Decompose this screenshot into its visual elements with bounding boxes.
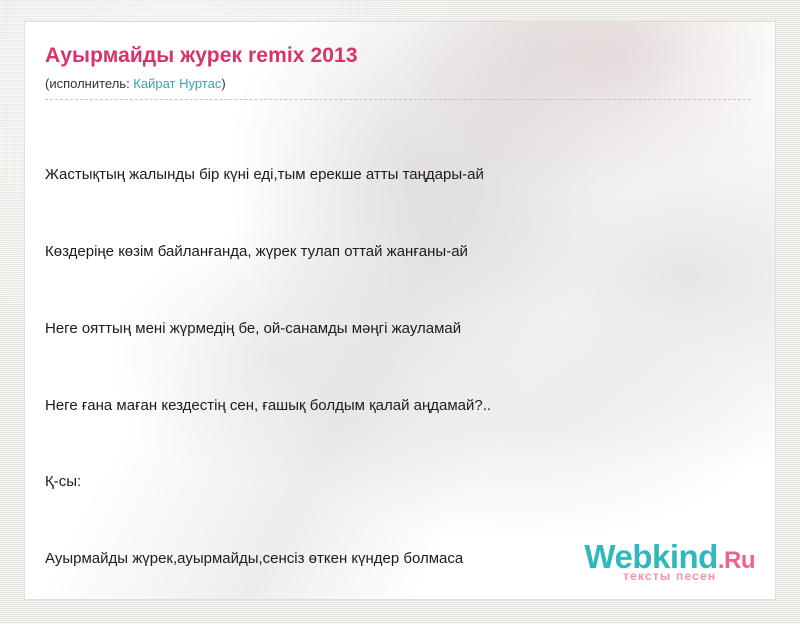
lyric-line: Көздеріңе көзім байланғанда, жүрек тулап…: [45, 239, 751, 265]
watermark-brand-suffix: .Ru: [718, 547, 755, 574]
lyrics-card: Ауырмайды журек remix 2013 (исполнитель:…: [24, 21, 776, 600]
lyric-line: Неге ояттың мені жүрмедің бе, ой-санамды…: [45, 316, 751, 342]
artist-link[interactable]: Кайрат Нуртас: [133, 76, 221, 91]
artist-suffix-label: ): [221, 76, 225, 91]
artist-line: (исполнитель: Кайрат Нуртас): [45, 75, 751, 100]
artist-prefix-label: (исполнитель:: [45, 76, 133, 91]
card-content: Ауырмайды журек remix 2013 (исполнитель:…: [25, 22, 775, 600]
lyric-line: Жастықтың жалынды бір күні еді,тым ерекш…: [45, 162, 751, 188]
lyrics-body: Жастықтың жалынды бір күні еді,тым ерекш…: [45, 111, 751, 600]
lyric-line-chorus-marker: Қ-сы:: [45, 469, 751, 495]
lyric-line: Неге ғана маған кездестің сен, ғашық бол…: [45, 393, 751, 419]
page-title: Ауырмайды журек remix 2013: [45, 43, 751, 69]
webkind-watermark: Webkind.Ru тексты песен: [584, 540, 755, 582]
